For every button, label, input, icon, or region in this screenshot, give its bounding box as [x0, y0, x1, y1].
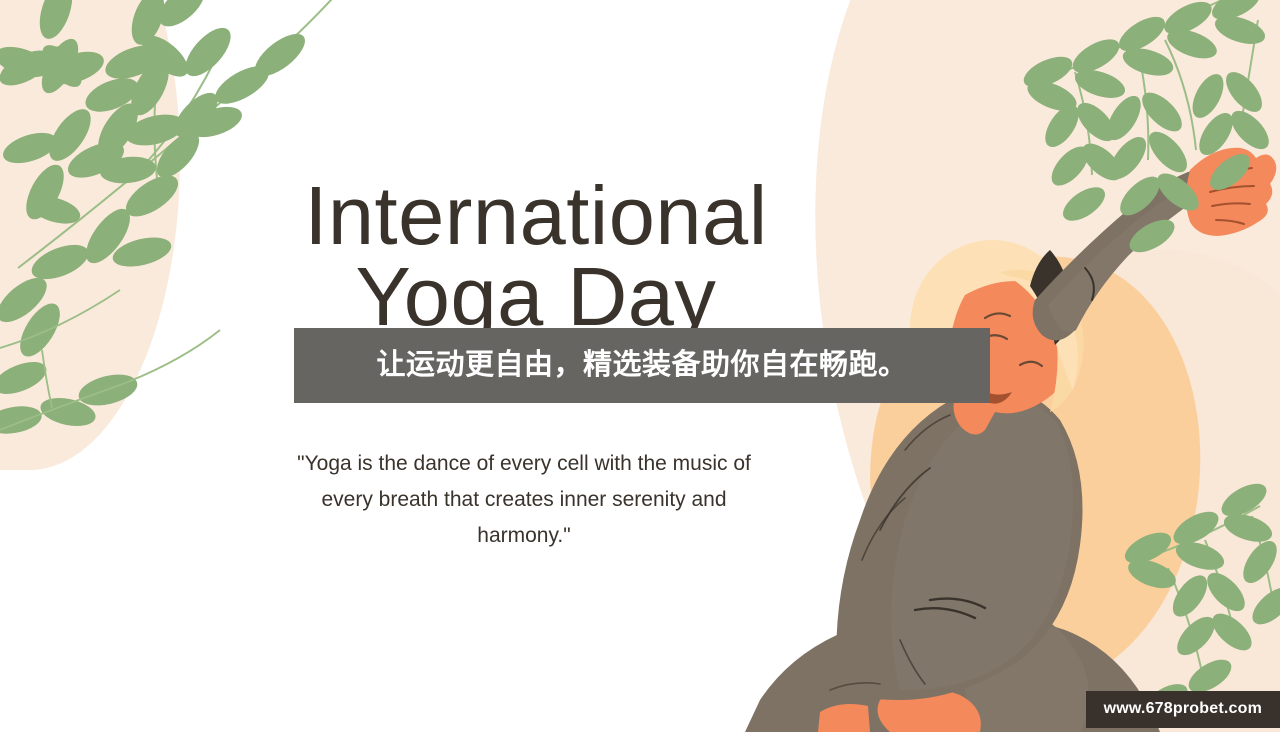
- quote-text: "Yoga is the dance of every cell with th…: [288, 446, 760, 554]
- watermark: www.678probet.com: [1086, 691, 1280, 728]
- overlay-banner: 让运动更自由，精选装备助你自在畅跑。: [294, 328, 990, 403]
- branch-icon-lower-left: [0, 290, 220, 430]
- page-title: International Yoga Day: [236, 176, 836, 337]
- leaf-icon-bottom-right: [1120, 477, 1280, 722]
- branch-icon-top-right: [1040, 0, 1265, 175]
- peach-blob: [842, 234, 1229, 706]
- cream-blob-right-lower: [940, 250, 1280, 732]
- title-line-2: Yoga Day: [236, 257, 836, 338]
- overlay-banner-text: 让运动更自由，精选装备助你自在畅跑。: [376, 351, 907, 380]
- leaf-icon-top-right: [1019, 0, 1275, 259]
- cream-blob-left-inner: [0, 0, 115, 470]
- branch-icon-bottom-right: [1140, 506, 1275, 672]
- title-line-1: International: [236, 176, 836, 257]
- poster-canvas: International Yoga Day "Yoga is the danc…: [0, 0, 1280, 732]
- cream-blob-left: [0, 0, 180, 470]
